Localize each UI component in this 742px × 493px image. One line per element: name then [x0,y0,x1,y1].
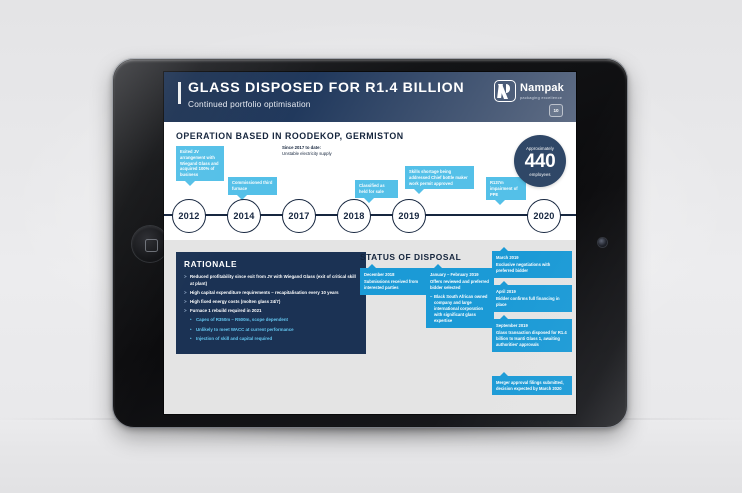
status-box-title: March 2019 [496,255,568,261]
status-box-body: Bidder confirms full financing in place [496,296,560,307]
timeline-note-2018: Classified as held for sale [355,180,398,198]
rationale-list: Reduced profitability since exit from JV… [184,274,358,343]
page-title: GLASS DISPOSED FOR R1.4 BILLION [188,80,464,96]
employee-count-suffix: employees [529,172,550,177]
status-box-december-2018: December 2018 Submissions received from … [360,268,428,295]
header-accent-bar [178,82,181,104]
slide-body: RATIONALE Reduced profitability since ex… [164,240,576,414]
timeline-year-2014[interactable]: 2014 [227,199,261,233]
status-box-september-2019: September 2019 Glass transaction dispose… [492,319,572,352]
status-box-body: Exclusive negotiations with preferred bi… [496,262,550,273]
nampak-logo: Nampak packaging excellence [494,80,564,102]
timeline-note-2019-impairment: R137m impairment of PPE [486,177,526,200]
status-box-body: Glass transaction disposed for R1.4 bill… [496,330,567,347]
rationale-subitem: Injection of skill and capital required [184,336,358,343]
rationale-item: Furnace 1 rebuild required in 2021 [184,308,358,315]
employee-count-prefix: Approximately [526,146,554,151]
rationale-item: Reduced profitability since exit from JV… [184,274,358,287]
timeline-year-2019[interactable]: 2019 [392,199,426,233]
brand-tagline: packaging excellence [520,96,564,100]
status-box-april-2019: April 2019 Bidder confirms full financin… [492,285,572,312]
rationale-subitem: Capex of R350m – R500m, scope dependent [184,317,358,324]
timeline-year-2020[interactable]: 2020 [527,199,561,233]
brand-name: Nampak [520,83,564,94]
rationale-heading: RATIONALE [184,259,358,269]
timeline-heading: OPERATION BASED IN ROODEKOP, GERMISTON [176,131,404,141]
home-button-square-icon [145,239,158,252]
status-box-detail: Black South African owned company and la… [430,294,490,324]
employee-count-badge: Approximately 440 employees [514,135,566,187]
status-box-title: September 2019 [496,323,568,329]
presentation-slide: GLASS DISPOSED FOR R1.4 BILLION Continue… [164,72,576,414]
status-box-title: April 2019 [496,289,568,295]
tablet-device: GLASS DISPOSED FOR R1.4 BILLION Continue… [112,58,628,428]
page-subtitle: Continued portfolio optimisation [188,99,311,109]
timeline-note-2019-skills: Skills shortage being addressed Chief bo… [405,166,474,189]
timeline-note-2012: Exited JV arrangement with Wiegand Glass… [176,146,224,181]
status-box-title: January – February 2019 [430,272,490,278]
status-heading: STATUS OF DISPOSAL [360,252,461,262]
tablet-screen: GLASS DISPOSED FOR R1.4 BILLION Continue… [164,72,576,414]
rationale-item: High capital expenditure requirements – … [184,290,358,297]
employee-count-number: 440 [525,152,556,171]
home-button[interactable] [132,226,168,262]
rationale-item: High fixed energy costs (molten glass 24… [184,299,358,306]
timeline-note-2014: Commissioned third furnace [228,177,277,195]
timeline-year-2018[interactable]: 2018 [337,199,371,233]
timeline-panel: OPERATION BASED IN ROODEKOP, GERMISTON E… [164,122,576,240]
status-box-body: Merger approval filings submitted, decis… [496,380,564,391]
status-box-merger-approval: Merger approval filings submitted, decis… [492,376,572,395]
slide-header: GLASS DISPOSED FOR R1.4 BILLION Continue… [164,72,576,122]
status-box-march-2019: March 2019 Exclusive negotiations with p… [492,251,572,278]
plain-note-title: Since 2017 to date: [282,145,321,150]
status-box-january-february-2019: January – February 2019 Offers reviewed … [426,268,494,328]
status-box-body: Offers reviewed and preferred bidder sel… [430,279,489,290]
slide-page-number: 10 [549,104,563,117]
timeline-plain-note: Since 2017 to date: Unstable electricity… [282,145,332,158]
status-box-title: December 2018 [364,272,424,278]
nampak-logo-text: Nampak packaging excellence [520,83,564,100]
timeline-year-2012[interactable]: 2012 [172,199,206,233]
nampak-logo-mark-icon [494,80,516,102]
front-camera-icon [598,238,607,247]
rationale-subitem: Unlikely to meet WACC at current perform… [184,327,358,334]
plain-note-text: Unstable electricity supply [282,151,332,156]
status-box-body: Submissions received from interested par… [364,279,418,290]
timeline-year-2017[interactable]: 2017 [282,199,316,233]
rationale-panel: RATIONALE Reduced profitability since ex… [176,252,366,354]
